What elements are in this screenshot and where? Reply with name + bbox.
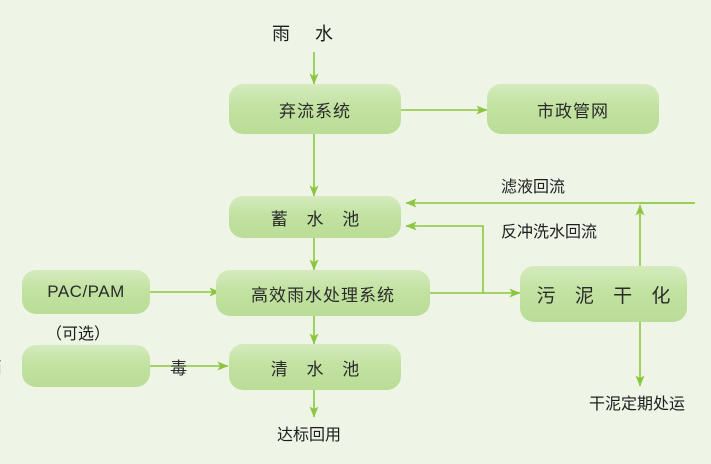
label-filtrate-return: 滤液回流 — [501, 173, 565, 197]
node-treatment-system[interactable]: 高效雨水处理系统 — [216, 270, 430, 316]
node-clear-water-tank[interactable]: 清 水 池 — [229, 344, 401, 390]
node-diversion-system[interactable]: 弃流系统 — [229, 84, 401, 134]
node-storage-tank[interactable]: 蓄 水 池 — [229, 196, 401, 238]
wire-filtrate-return — [406, 203, 694, 204]
node-sludge-drying[interactable]: 污 泥 干 化 — [520, 266, 687, 322]
node-disinfection[interactable]: 消 毒 — [22, 345, 150, 387]
flowchart-canvas: 雨 水 弃流系统 市政管网 蓄 水 池 高效雨水处理系统 PAC/PAM （可选… — [0, 0, 711, 464]
node-pac-pam[interactable]: PAC/PAM — [22, 270, 150, 314]
label-dry-sludge-disposal: 干泥定期处运 — [589, 390, 685, 414]
label-compliant-reuse: 达标回用 — [277, 421, 341, 445]
label-pac-pam-optional: （可选） — [46, 320, 110, 344]
label-backwash-return: 反冲洗水回流 — [501, 218, 597, 242]
node-municipal-network[interactable]: 市政管网 — [487, 84, 659, 134]
rainwater-title: 雨 水 — [272, 20, 334, 46]
